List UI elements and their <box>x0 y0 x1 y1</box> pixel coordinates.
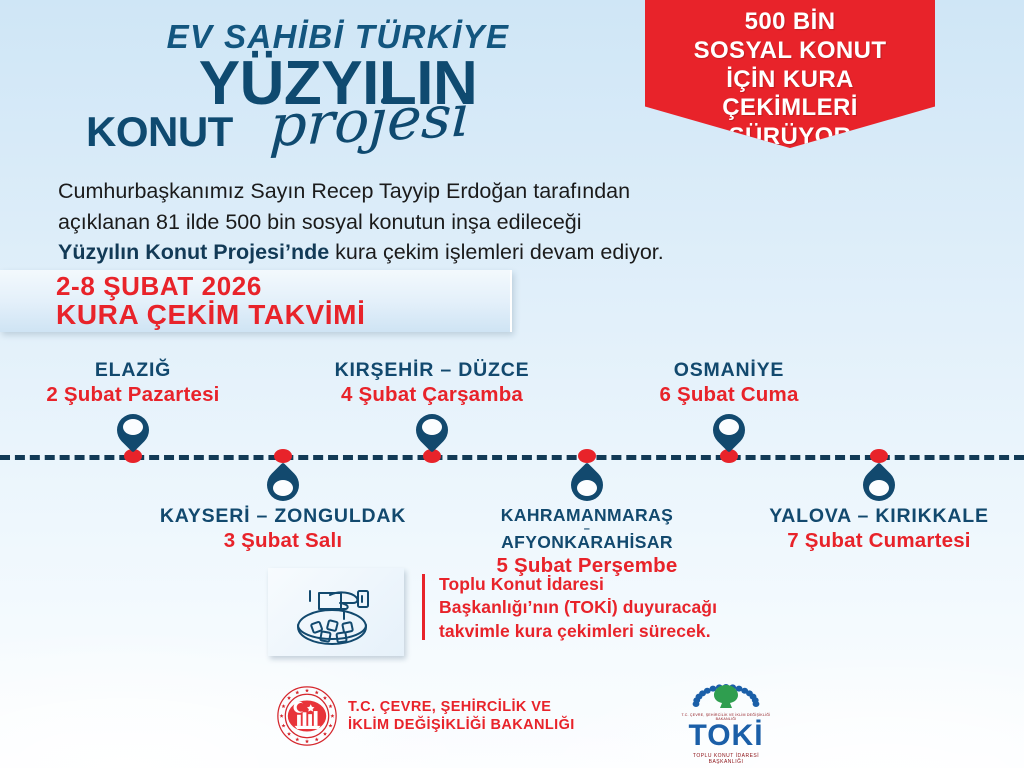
timeline-label: KAHRAMANMARAŞ–AFYONKARAHİSAR5 Şubat Perş… <box>427 506 747 577</box>
intro-line-2: açıklanan 81 ilde 500 bin sosyal konutun… <box>58 207 938 238</box>
map-pin-icon <box>267 467 299 503</box>
ministry-name: T.C. ÇEVRE, ŞEHİRCİLİK VE İKLİM DEĞİŞİKL… <box>348 698 575 735</box>
ministry-line-2: İKLİM DEĞİŞİKLİĞİ BAKANLIĞI <box>348 716 575 734</box>
toki-logo-subtitle: TOPLU KONUT İDARESİ BAŞKANLIĞI <box>676 753 776 765</box>
note-text: Toplu Konut İdaresi Başkanlığı’nın (TOKİ… <box>439 573 717 643</box>
ribbon-line-2: SOSYAL KONUT <box>694 37 887 66</box>
date-range: 2-8 ŞUBAT 2026 <box>56 272 510 300</box>
tree-glyph <box>714 685 738 708</box>
timeline-date: 7 Şubat Cumartesi <box>719 529 1024 553</box>
title-word-projesi: projesi <box>268 81 472 160</box>
lottery-draw-icon <box>268 568 404 656</box>
header: EV SAHİBİ TÜRKİYE YÜZYILIN KONUT projesi… <box>0 0 1024 165</box>
timeline-city-line: AFYONKARAHİSAR <box>427 533 747 553</box>
timeline-label: ELAZIĞ2 Şubat Pazartesi <box>0 360 293 406</box>
timeline-date: 4 Şubat Çarşamba <box>272 383 592 407</box>
map-pin-icon <box>117 414 149 450</box>
timeline-label: KIRŞEHİR – DÜZCE4 Şubat Çarşamba <box>272 360 592 406</box>
timeline-city-line: ELAZIĞ <box>0 360 293 382</box>
timeline-city-line: OSMANİYE <box>569 360 889 382</box>
map-pin-icon <box>416 414 448 450</box>
map-pin-icon <box>713 414 745 450</box>
ministry-line-1: T.C. ÇEVRE, ŞEHİRCİLİK VE <box>348 698 575 716</box>
timeline-city-line: KAYSERİ – ZONGULDAK <box>123 506 443 528</box>
timeline-city: ELAZIĞ <box>0 360 293 382</box>
poster-title: EV SAHİBİ TÜRKİYE YÜZYILIN KONUT projesi <box>58 20 618 160</box>
draw-timeline: ELAZIĞ2 Şubat PazartesiKAYSERİ – ZONGULD… <box>0 360 1024 560</box>
timeline-label: OSMANİYE6 Şubat Cuma <box>569 360 889 406</box>
ministry-logo-group: T.C. ÇEVRE, ŞEHİRCİLİK VE İKLİM DEĞİŞİKL… <box>276 685 575 747</box>
lottery-draw-icon-svg <box>286 579 386 645</box>
timeline-date: 3 Şubat Salı <box>123 529 443 553</box>
timeline-date: 6 Şubat Cuma <box>569 383 889 407</box>
title-word-konut: KONUT <box>86 108 233 156</box>
infographic-poster: EV SAHİBİ TÜRKİYE YÜZYILIN KONUT projesi… <box>0 0 1024 768</box>
timeline-dot <box>578 449 596 463</box>
ribbon-line-4: ÇEKİMLERİ <box>694 94 887 123</box>
timeline-city: KAYSERİ – ZONGULDAK <box>123 506 443 528</box>
toki-wordmark: TOKİ <box>676 721 776 751</box>
red-ribbon-banner: 500 BİN SOSYAL KONUT İÇİN KURA ÇEKİMLERİ… <box>645 0 935 148</box>
map-pin-icon <box>571 467 603 503</box>
timeline-label: KAYSERİ – ZONGULDAK3 Şubat Salı <box>123 506 443 552</box>
timeline-dot <box>274 449 292 463</box>
timeline-label: YALOVA – KIRIKKALE7 Şubat Cumartesi <box>719 506 1024 552</box>
toki-logo: T.C. ÇEVRE, ŞEHİRCİLİK VE İKLİM DEĞİŞİKL… <box>676 683 776 765</box>
note-line-3: takvimle kura çekimleri sürecek. <box>439 620 717 643</box>
ribbon-text: 500 BİN SOSYAL KONUT İÇİN KURA ÇEKİMLERİ… <box>694 8 887 152</box>
intro-project-name: Yüzyılın Konut Projesi’nde <box>58 240 329 264</box>
map-pin-icon <box>863 467 895 503</box>
timeline-city: KIRŞEHİR – DÜZCE <box>272 360 592 382</box>
note-line-2: Başkanlığı’nın (TOKİ) duyuracağı <box>439 596 717 619</box>
ribbon-line-5: SÜRÜYOR <box>694 123 887 152</box>
footer: T.C. ÇEVRE, ŞEHİRCİLİK VE İKLİM DEĞİŞİKL… <box>0 683 1024 753</box>
timeline-dot <box>870 449 888 463</box>
timeline-city-line: YALOVA – KIRIKKALE <box>719 506 1024 528</box>
timeline-city: KAHRAMANMARAŞ–AFYONKARAHİSAR <box>427 506 747 553</box>
note-divider <box>422 574 425 640</box>
title-line-konut-projesi: KONUT projesi <box>58 108 618 160</box>
turkish-republic-emblem <box>276 685 338 747</box>
intro-line-3: Yüzyılın Konut Projesi’nde kura çekim iş… <box>58 237 938 268</box>
intro-line-1: Cumhurbaşkanımız Sayın Recep Tayyip Erdo… <box>58 176 938 207</box>
date-banner: 2-8 ŞUBAT 2026 KURA ÇEKİM TAKVİMİ <box>0 270 512 332</box>
timeline-date: 2 Şubat Pazartesi <box>0 383 293 407</box>
toki-note: Toplu Konut İdaresi Başkanlığı’nın (TOKİ… <box>268 568 717 656</box>
timeline-city-line: KIRŞEHİR – DÜZCE <box>272 360 592 382</box>
intro-line-3-rest: kura çekim işlemleri devam ediyor. <box>329 240 664 264</box>
ribbon-line-3: İÇİN KURA <box>694 66 887 95</box>
date-banner-subtitle: KURA ÇEKİM TAKVİMİ <box>56 300 510 330</box>
note-line-1: Toplu Konut İdaresi <box>439 573 717 596</box>
timeline-city: YALOVA – KIRIKKALE <box>719 506 1024 528</box>
toki-tree-icon <box>680 683 772 709</box>
ribbon-line-1: 500 BİN <box>694 8 887 37</box>
intro-paragraph: Cumhurbaşkanımız Sayın Recep Tayyip Erdo… <box>58 176 938 268</box>
timeline-city: OSMANİYE <box>569 360 889 382</box>
